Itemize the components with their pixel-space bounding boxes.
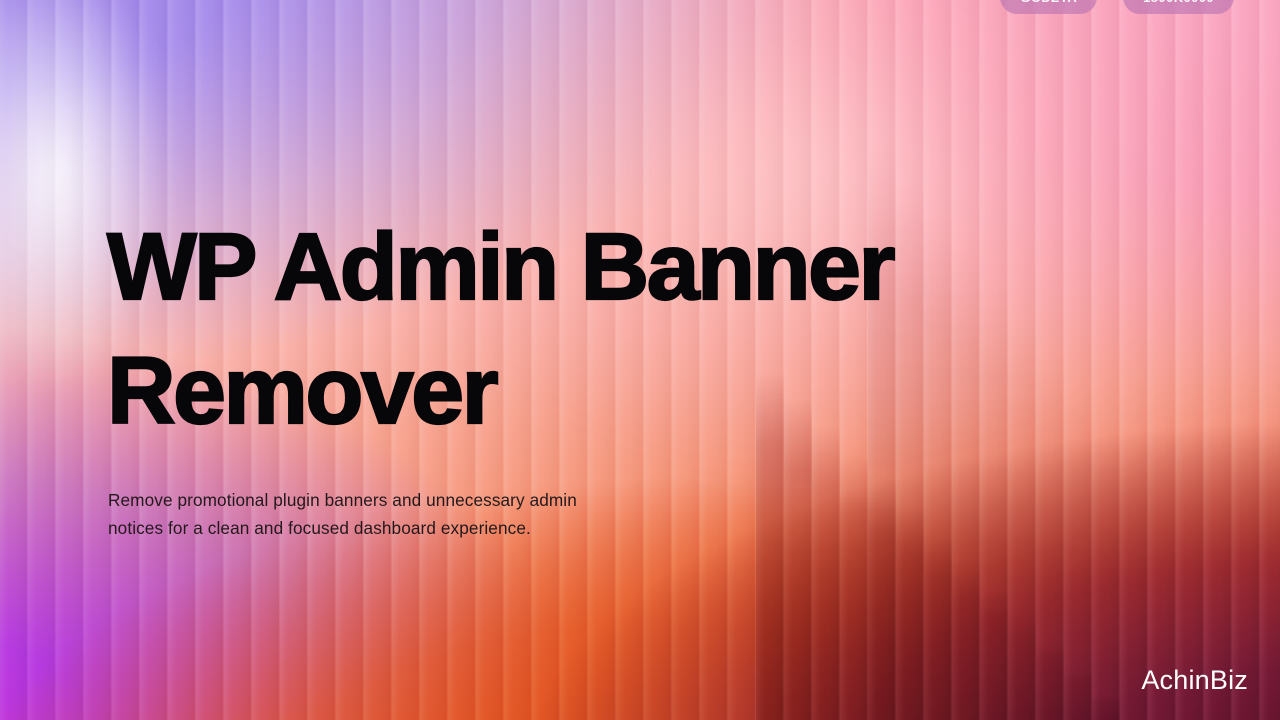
top-pill-row: GODZYA 1800K0000	[1000, 0, 1234, 14]
top-pill-2[interactable]: 1800K0000	[1123, 0, 1234, 14]
page-subtitle: Remove promotional plugin banners and un…	[108, 486, 728, 542]
page-title: WP Admin Banner Remover	[107, 205, 1007, 453]
top-pill-1[interactable]: GODZYA	[1000, 0, 1097, 14]
brand-watermark: AchinBiz	[1141, 665, 1248, 696]
banner-canvas: GODZYA 1800K0000 WP Admin Banner Remover…	[0, 0, 1280, 720]
banner-content: WP Admin Banner Remover Remove promotion…	[107, 0, 1007, 720]
